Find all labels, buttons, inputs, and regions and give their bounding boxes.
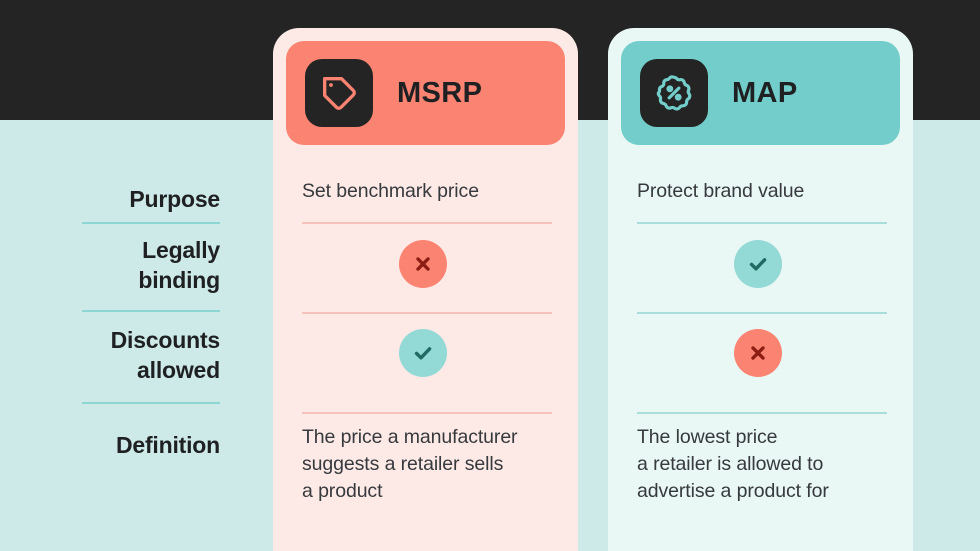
price-tag-icon xyxy=(305,59,373,127)
row-label-line: Discounts xyxy=(20,325,220,355)
cell-msrp-definition: The price a manufacturer suggests a reta… xyxy=(302,424,564,505)
cell-line: a product xyxy=(302,478,564,505)
row-label-line: binding xyxy=(20,265,220,295)
status-badge-map-legally-binding-yes xyxy=(734,240,782,288)
card-header-map: MAP xyxy=(621,41,900,145)
row-divider-2 xyxy=(82,310,220,312)
status-badge-msrp-legally-binding-no xyxy=(399,240,447,288)
row-label-line: Legally xyxy=(20,235,220,265)
cell-line: Set benchmark price xyxy=(302,178,552,205)
cell-divider-msrp-3 xyxy=(302,412,552,414)
infographic-canvas: Purpose Legally binding Discounts allowe… xyxy=(0,0,980,551)
cell-divider-map-1 xyxy=(637,222,887,224)
cell-map-definition: The lowest price a retailer is allowed t… xyxy=(637,424,899,505)
card-title-msrp: MSRP xyxy=(397,77,482,110)
cell-divider-map-3 xyxy=(637,412,887,414)
cell-divider-msrp-2 xyxy=(302,312,552,314)
row-divider-1 xyxy=(82,222,220,224)
row-label-column: Purpose Legally binding Discounts allowe… xyxy=(0,120,272,551)
row-label-legally-binding: Legally binding xyxy=(20,235,220,295)
row-label-purpose: Purpose xyxy=(20,184,220,214)
cell-line: The price a manufacturer xyxy=(302,424,564,451)
row-divider-3 xyxy=(82,402,220,404)
cell-map-purpose: Protect brand value xyxy=(637,178,887,205)
cell-line: Protect brand value xyxy=(637,178,887,205)
row-label-line: allowed xyxy=(20,355,220,385)
row-label-discounts-allowed: Discounts allowed xyxy=(20,325,220,385)
row-label-line: Purpose xyxy=(129,186,220,212)
status-badge-map-discounts-allowed-no xyxy=(734,329,782,377)
card-header-msrp: MSRP xyxy=(286,41,565,145)
cell-line: advertise a product for xyxy=(637,478,899,505)
status-badge-msrp-discounts-allowed-yes xyxy=(399,329,447,377)
cell-divider-msrp-1 xyxy=(302,222,552,224)
row-label-line: Definition xyxy=(116,432,220,458)
comparison-card-msrp[interactable]: MSRP Set benchmark price The price a man… xyxy=(273,28,578,551)
row-label-definition: Definition xyxy=(20,430,220,460)
cell-line: The lowest price xyxy=(637,424,899,451)
cell-msrp-purpose: Set benchmark price xyxy=(302,178,552,205)
cell-line: suggests a retailer sells xyxy=(302,451,564,478)
comparison-card-map[interactable]: MAP Protect brand value The lowest price… xyxy=(608,28,913,551)
cell-line: a retailer is allowed to xyxy=(637,451,899,478)
percent-badge-icon xyxy=(640,59,708,127)
cell-divider-map-2 xyxy=(637,312,887,314)
card-title-map: MAP xyxy=(732,77,798,110)
